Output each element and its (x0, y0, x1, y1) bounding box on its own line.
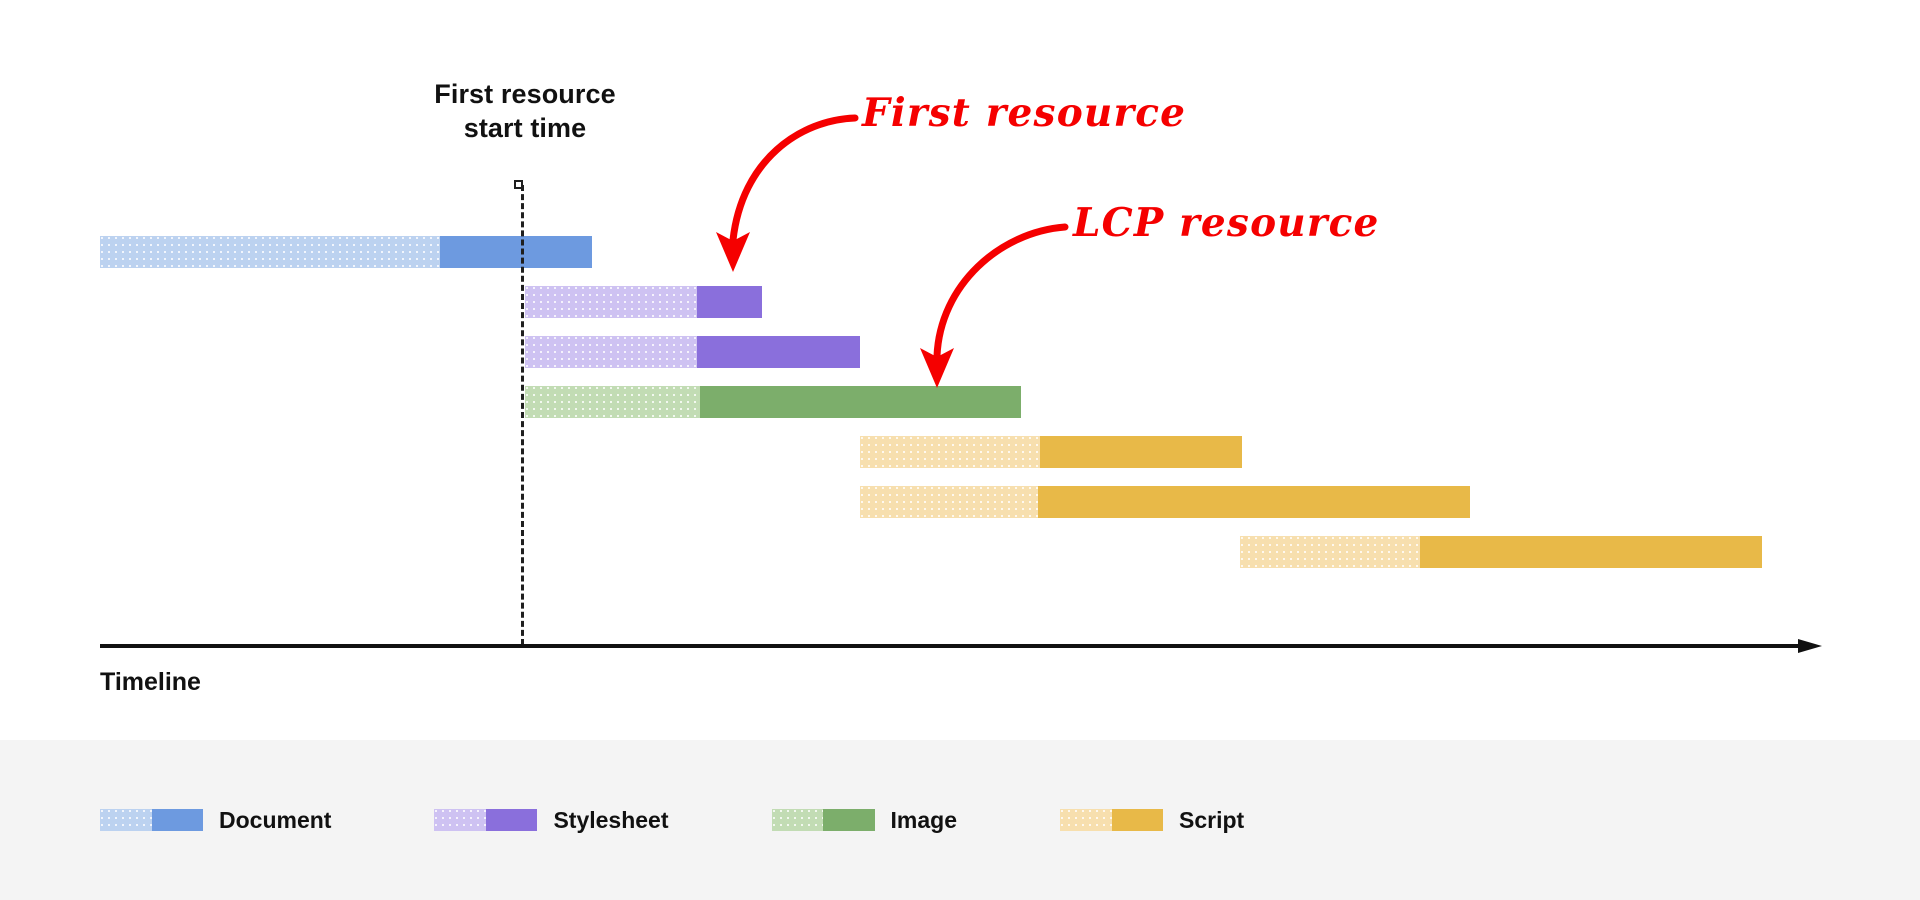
legend-swatch-stylesheet (434, 809, 537, 831)
waterfall-plot-area: First resource start time First resource… (0, 0, 1920, 740)
axis-line (100, 644, 1800, 648)
first-resource-annotation-text: First resource (862, 90, 1186, 136)
resource-bar-script-2 (860, 486, 1470, 518)
swatch-wait-segment (434, 809, 486, 831)
bar-wait-segment (860, 436, 1040, 468)
legend-item-image[interactable]: Image (772, 807, 957, 834)
bar-transfer-segment (1038, 486, 1470, 518)
bar-transfer-segment (697, 336, 860, 368)
legend-item-stylesheet[interactable]: Stylesheet (434, 807, 668, 834)
swatch-transfer-segment (486, 809, 538, 831)
bar-wait-segment (525, 386, 700, 418)
bar-transfer-segment (1040, 436, 1242, 468)
legend-swatch-script (1060, 809, 1163, 831)
bar-transfer-segment (697, 286, 762, 318)
resource-bar-document (100, 236, 592, 268)
legend-label-script: Script (1179, 807, 1244, 834)
bar-transfer-segment (700, 386, 1021, 418)
legend-item-document[interactable]: Document (100, 807, 331, 834)
lcp-resource-annotation-text: LCP resource (1073, 200, 1380, 246)
bar-transfer-segment (440, 236, 592, 268)
legend-items: Document Stylesheet Image (100, 740, 1347, 900)
marker-label-line-2: start time (330, 112, 720, 146)
timeline-axis (100, 639, 1824, 653)
legend-item-script[interactable]: Script (1060, 807, 1244, 834)
legend-swatch-image (772, 809, 875, 831)
swatch-transfer-segment (1112, 809, 1164, 831)
waterfall-diagram: First resource start time First resource… (0, 0, 1920, 900)
legend: Document Stylesheet Image (0, 740, 1920, 900)
swatch-transfer-segment (152, 809, 204, 831)
marker-label-line-1: First resource (330, 78, 720, 112)
resource-bar-stylesheet-2 (525, 336, 860, 368)
bar-wait-segment (1240, 536, 1420, 568)
legend-label-image: Image (891, 807, 957, 834)
bar-wait-segment (525, 336, 697, 368)
swatch-transfer-segment (823, 809, 875, 831)
bar-transfer-segment (1420, 536, 1762, 568)
swatch-wait-segment (100, 809, 152, 831)
resource-bar-stylesheet-1 (525, 286, 762, 318)
legend-label-stylesheet: Stylesheet (553, 807, 668, 834)
bar-wait-segment (525, 286, 697, 318)
timeline-axis-label: Timeline (100, 668, 201, 697)
swatch-wait-segment (1060, 809, 1112, 831)
resource-bar-image (525, 386, 1021, 418)
legend-swatch-document (100, 809, 203, 831)
bar-wait-segment (100, 236, 440, 268)
bar-wait-segment (860, 486, 1038, 518)
resource-bar-script-3 (1240, 536, 1762, 568)
resource-bar-script-1 (860, 436, 1242, 468)
first-resource-marker-line (521, 185, 524, 645)
swatch-wait-segment (772, 809, 824, 831)
first-resource-marker-label: First resource start time (330, 78, 720, 146)
legend-label-document: Document (219, 807, 331, 834)
axis-arrow-icon (1798, 639, 1822, 653)
